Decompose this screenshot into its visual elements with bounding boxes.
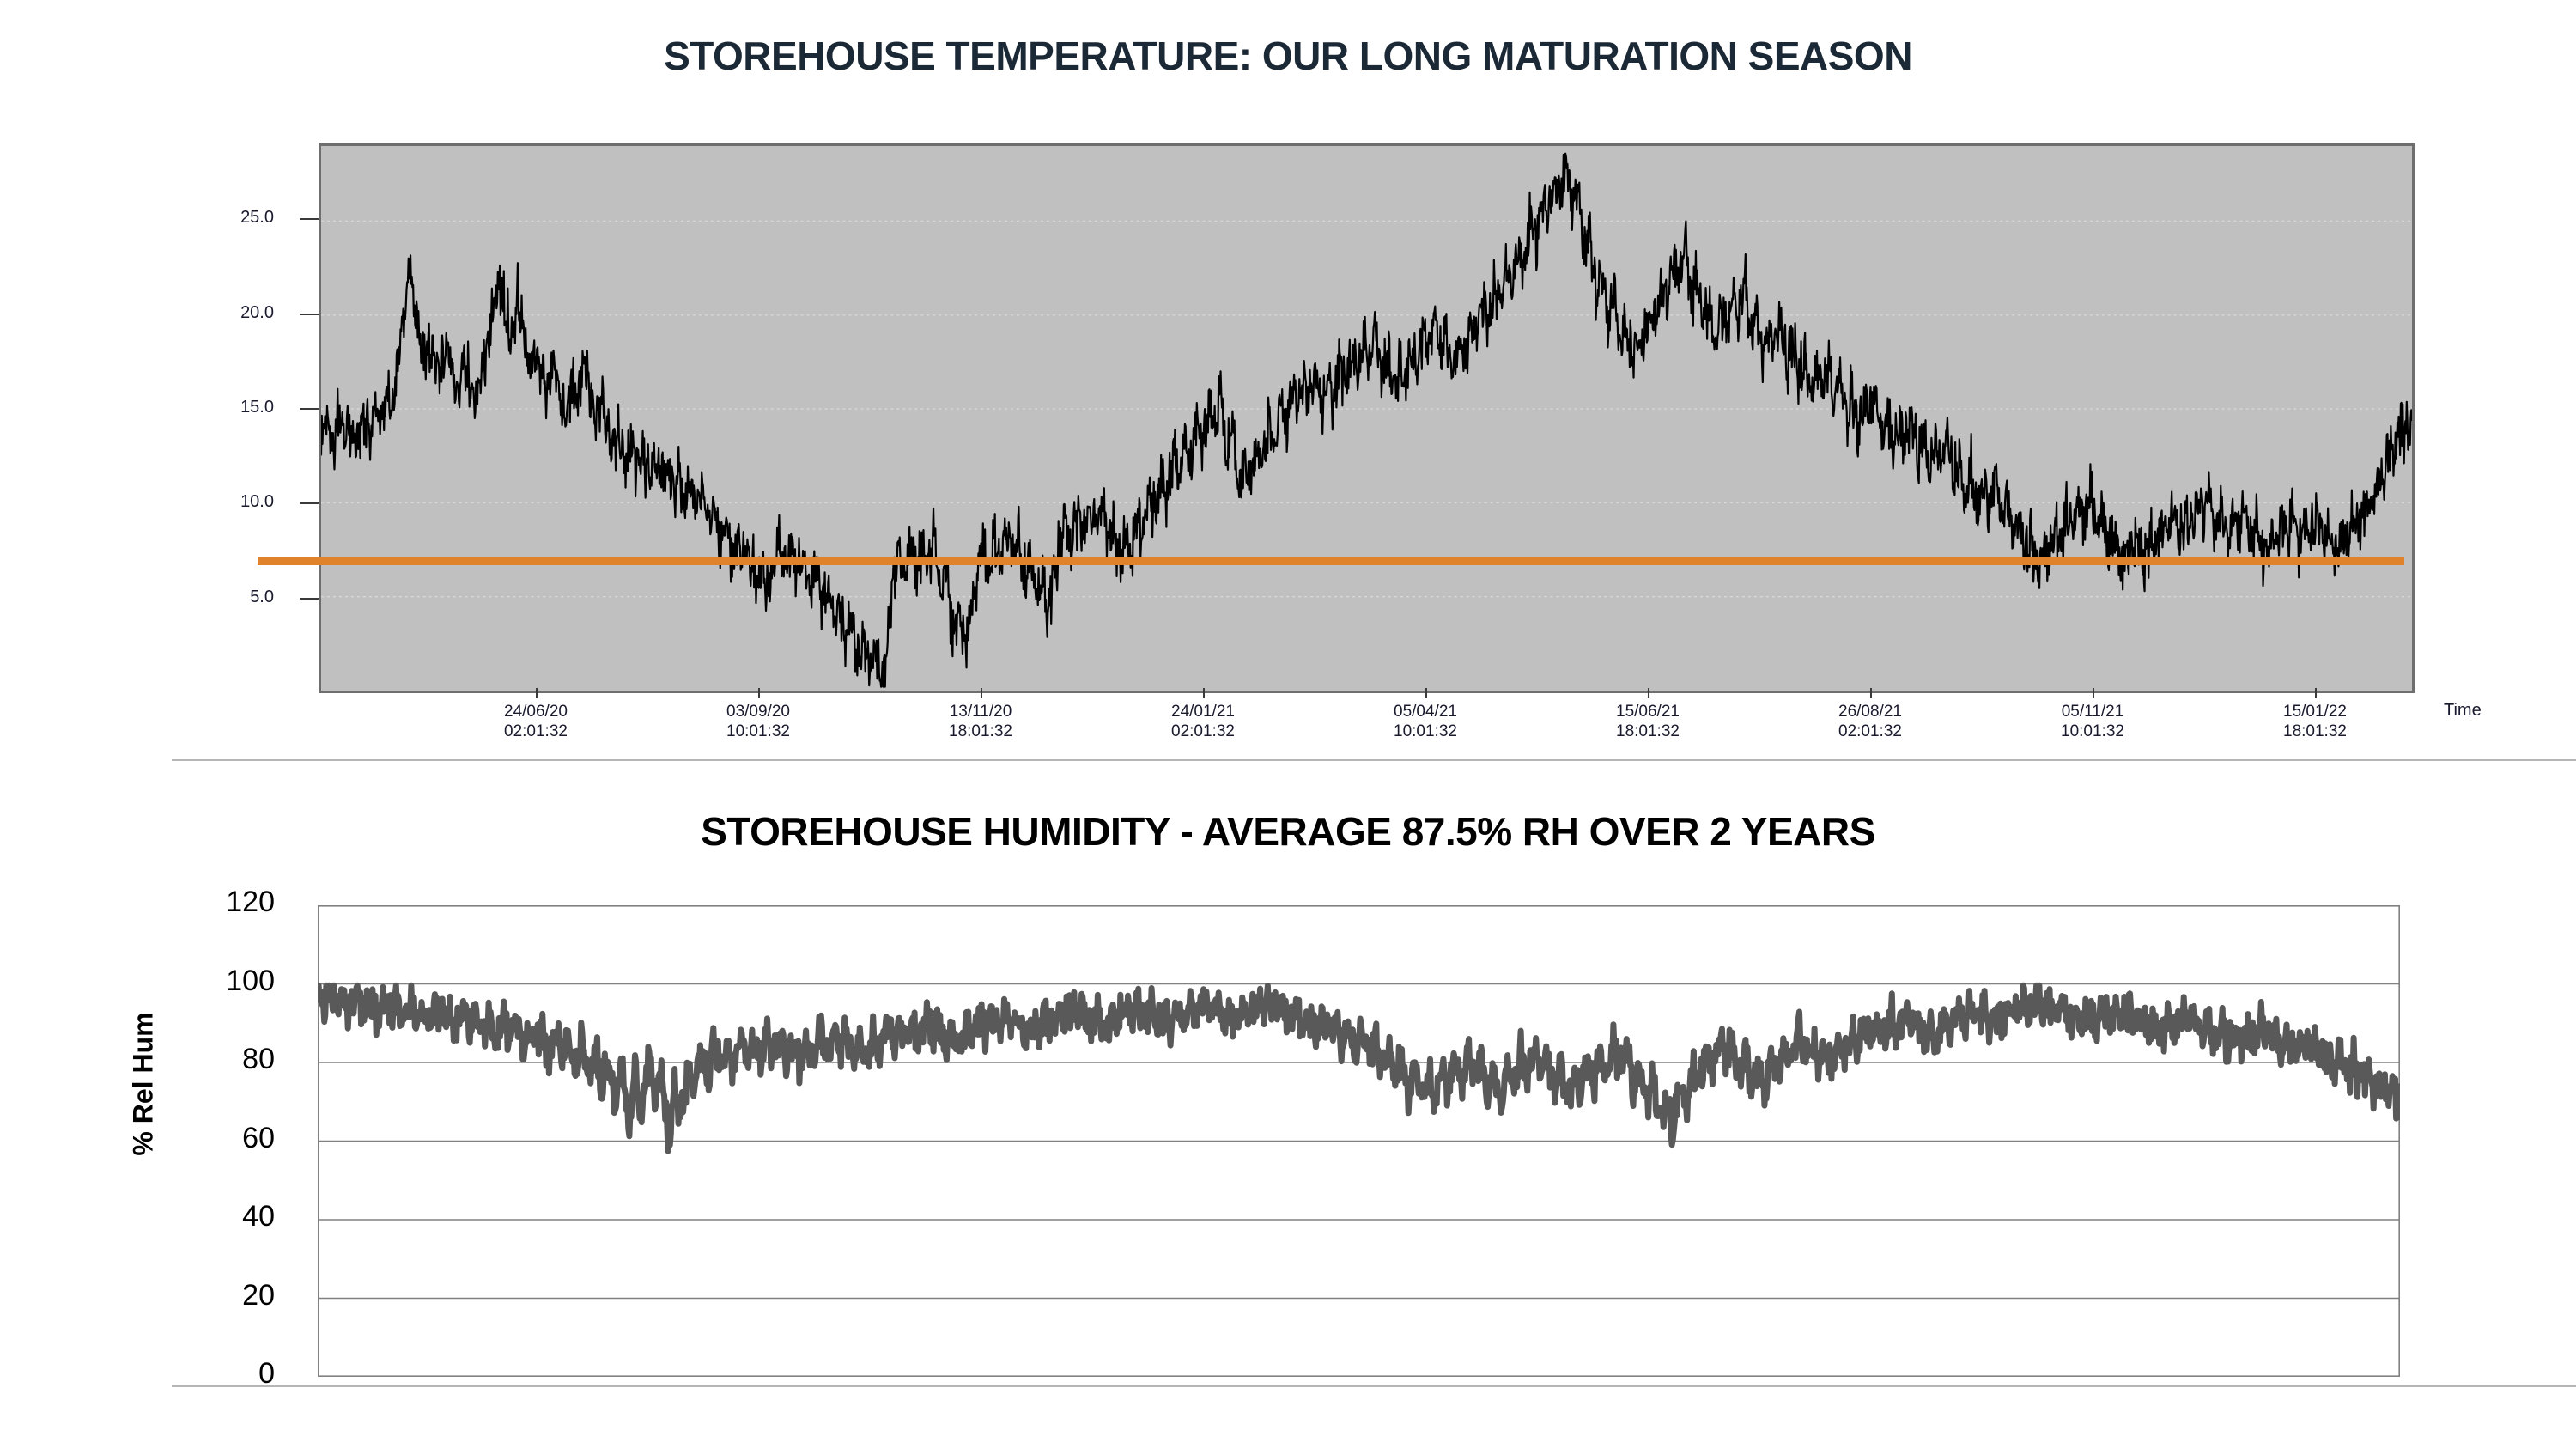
temperature-y-tick-mark: [300, 218, 319, 220]
temperature-chart-title: STOREHOUSE TEMPERATURE: OUR LONG MATURAT…: [0, 33, 2576, 79]
humidity-plot-area: [318, 905, 2400, 1377]
humidity-y-tick-label: 60: [180, 1122, 275, 1155]
temperature-y-tick-label: 5.0: [197, 588, 274, 607]
temperature-threshold-line: [258, 557, 2404, 565]
temperature-x-tick-label: 15/06/2118:01:32: [1571, 702, 1725, 741]
humidity-y-tick-label: 100: [180, 965, 275, 998]
x-tick-time: 02:01:32: [459, 721, 613, 741]
temperature-x-tick-label: 05/11/2110:01:32: [2015, 702, 2170, 741]
x-tick-date: 05/11/21: [2015, 702, 2170, 721]
x-tick-time: 18:01:32: [903, 721, 1058, 741]
temperature-x-tick-mark: [1870, 688, 1872, 698]
x-tick-date: 24/01/21: [1126, 702, 1280, 721]
humidity-panel-divider: [172, 1385, 2576, 1387]
x-tick-time: 10:01:32: [2015, 721, 2170, 741]
temperature-x-tick-label: 13/11/2018:01:32: [903, 702, 1058, 741]
temperature-y-tick-mark: [300, 598, 319, 600]
temperature-gridlines: [321, 221, 2412, 596]
x-tick-time: 02:01:32: [1126, 721, 1280, 741]
temperature-chart-panel: STOREHOUSE TEMPERATURE: OUR LONG MATURAT…: [0, 0, 2576, 759]
humidity-chart-panel: STOREHOUSE HUMIDITY - AVERAGE 87.5% RH O…: [0, 759, 2576, 1449]
time-axis-label: Time: [2444, 701, 2482, 721]
x-tick-date: 05/04/21: [1348, 702, 1503, 721]
temperature-y-tick-mark: [300, 408, 319, 410]
humidity-gridlines: [318, 905, 2400, 1377]
temperature-x-tick-label: 05/04/2110:01:32: [1348, 702, 1503, 741]
x-tick-date: 03/09/20: [681, 702, 835, 721]
temperature-x-tick-mark: [536, 688, 538, 698]
x-tick-time: 10:01:32: [1348, 721, 1503, 741]
temperature-y-tick-label: 15.0: [197, 398, 274, 417]
temperature-data-line: [321, 154, 2412, 687]
x-tick-date: 15/01/22: [2238, 702, 2392, 721]
temperature-y-tick-label: 25.0: [197, 208, 274, 228]
temperature-x-tick-mark: [758, 688, 760, 698]
x-tick-date: 13/11/20: [903, 702, 1058, 721]
x-tick-date: 15/06/21: [1571, 702, 1725, 721]
temperature-x-tick-mark: [1203, 688, 1205, 698]
humidity-y-tick-label: 40: [180, 1200, 275, 1233]
x-tick-date: 26/08/21: [1793, 702, 1947, 721]
humidity-chart-title: STOREHOUSE HUMIDITY - AVERAGE 87.5% RH O…: [0, 808, 2576, 855]
temperature-y-tick-label: 10.0: [197, 492, 274, 512]
temperature-x-tick-mark: [1648, 688, 1649, 698]
temperature-plot-area: [319, 143, 2415, 693]
x-tick-date: 24/06/20: [459, 702, 613, 721]
temperature-y-tick-label: 20.0: [197, 303, 274, 323]
x-tick-time: 18:01:32: [1571, 721, 1725, 741]
temperature-line-svg: [321, 146, 2412, 691]
temperature-x-tick-label: 24/01/2102:01:32: [1126, 702, 1280, 741]
humidity-y-tick-label: 120: [180, 886, 275, 919]
humidity-line-svg: [318, 905, 2400, 1377]
x-tick-time: 02:01:32: [1793, 721, 1947, 741]
humidity-y-tick-label: 20: [180, 1279, 275, 1312]
x-tick-time: 10:01:32: [681, 721, 835, 741]
temperature-x-tick-label: 26/08/2102:01:32: [1793, 702, 1947, 741]
temperature-x-tick-mark: [2093, 688, 2094, 698]
temperature-x-tick-mark: [981, 688, 982, 698]
temperature-y-tick-mark: [300, 502, 319, 504]
temperature-x-tick-label: 15/01/2218:01:32: [2238, 702, 2392, 741]
humidity-y-tick-label: 80: [180, 1043, 275, 1076]
temperature-x-tick-mark: [2315, 688, 2317, 698]
temperature-x-tick-label: 03/09/2010:01:32: [681, 702, 835, 741]
humidity-data-line: [318, 985, 2400, 1151]
humidity-y-axis-title: % Rel Hum: [128, 1012, 160, 1155]
temperature-y-tick-mark: [300, 314, 319, 315]
x-tick-time: 18:01:32: [2238, 721, 2392, 741]
temperature-x-tick-label: 24/06/2002:01:32: [459, 702, 613, 741]
temperature-x-tick-mark: [1425, 688, 1427, 698]
